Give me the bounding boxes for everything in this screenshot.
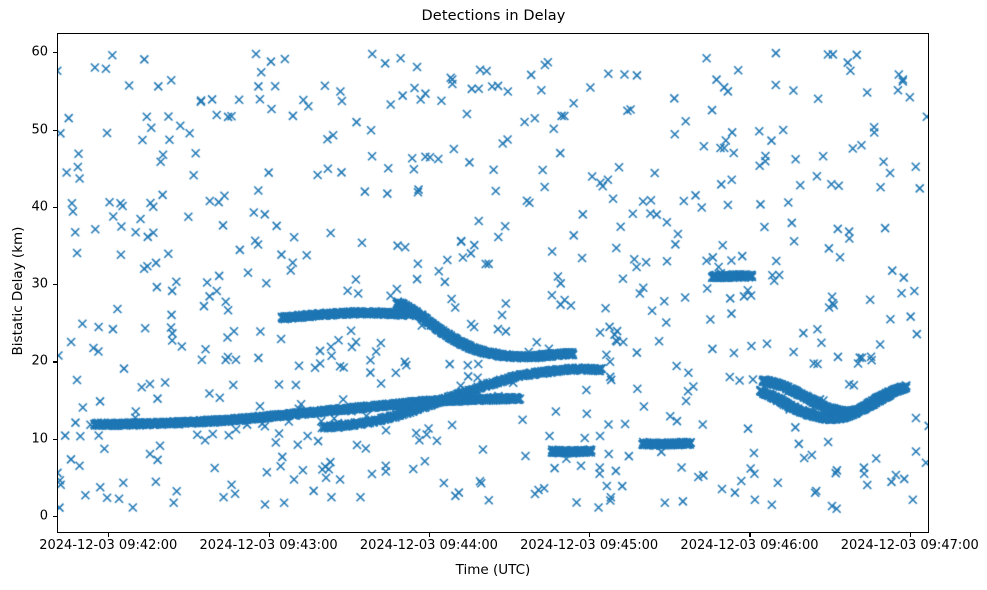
y-tick-label: 50 xyxy=(31,122,48,137)
x-tick-mark xyxy=(749,533,750,537)
x-axis-label: Time (UTC) xyxy=(57,562,929,578)
x-tick-label: 2024-12-03 09:46:00 xyxy=(680,538,818,553)
x-tick-label: 2024-12-03 09:45:00 xyxy=(520,538,658,553)
x-tick-mark xyxy=(910,533,911,537)
figure-canvas: Detections in Delay 0102030405060 2024-1… xyxy=(0,0,987,590)
x-tick-label: 2024-12-03 09:43:00 xyxy=(200,538,338,553)
y-tick-label: 60 xyxy=(31,45,48,60)
y-tick-label: 40 xyxy=(31,199,48,214)
y-tick-label: 10 xyxy=(31,431,48,446)
x-tick-mark xyxy=(269,533,270,537)
x-tick-mark xyxy=(108,533,109,537)
y-tick-label: 20 xyxy=(31,354,48,369)
chart-title: Detections in Delay xyxy=(0,8,987,24)
y-axis-label: Bistatic Delay (km) xyxy=(10,41,26,541)
x-tick-label: 2024-12-03 09:42:00 xyxy=(39,538,177,553)
x-tick-label: 2024-12-03 09:47:00 xyxy=(841,538,979,553)
x-tick-mark xyxy=(429,533,430,537)
scatter-plot-canvas xyxy=(58,34,928,532)
plot-area xyxy=(57,33,929,533)
y-tick-label: 30 xyxy=(31,277,48,292)
x-tick-mark xyxy=(589,533,590,537)
x-tick-label: 2024-12-03 09:44:00 xyxy=(360,538,498,553)
y-tick-label: 0 xyxy=(40,508,48,523)
